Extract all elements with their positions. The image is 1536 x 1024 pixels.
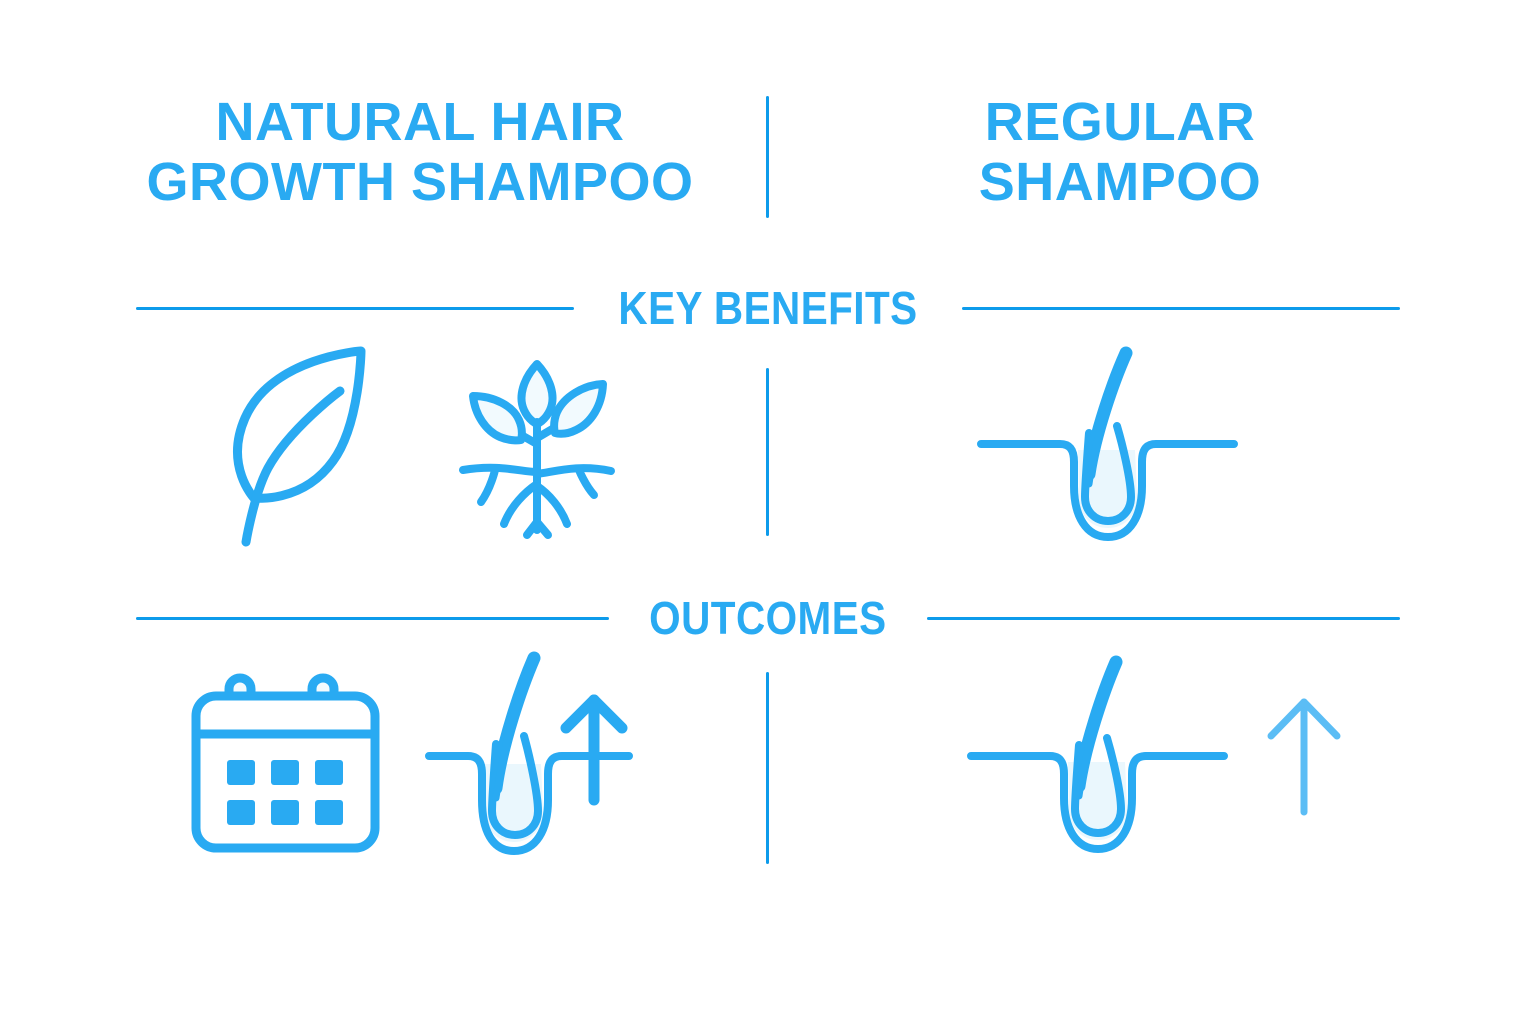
section-divider-outcomes: OUTCOMES (136, 595, 1400, 641)
hair-follicle-icon (975, 338, 1240, 553)
vertical-divider-outcomes (766, 672, 769, 864)
section-label-outcomes: OUTCOMES (649, 595, 886, 641)
sprout-roots-icon (455, 352, 620, 537)
leaf-icon (228, 344, 368, 549)
divider-rule-right (962, 307, 1400, 310)
column-heading-right: REGULAR SHAMPOO (810, 92, 1430, 213)
up-arrow-icon (1262, 694, 1347, 819)
hair-follicle-growth-icon (424, 644, 644, 864)
divider-rule-right (927, 617, 1400, 620)
divider-rule-left (136, 307, 574, 310)
calendar-icon (188, 668, 383, 858)
section-label-key-benefits: KEY BENEFITS (618, 285, 917, 331)
section-divider-key-benefits: KEY BENEFITS (136, 285, 1400, 331)
vertical-divider-header (766, 96, 769, 218)
infographic-canvas: NATURAL HAIR GROWTH SHAMPOO REGULAR SHAM… (0, 0, 1536, 1024)
vertical-divider-key-benefits (766, 368, 769, 536)
divider-rule-left (136, 617, 609, 620)
column-heading-left: NATURAL HAIR GROWTH SHAMPOO (110, 92, 730, 213)
hair-follicle-icon (965, 644, 1230, 864)
